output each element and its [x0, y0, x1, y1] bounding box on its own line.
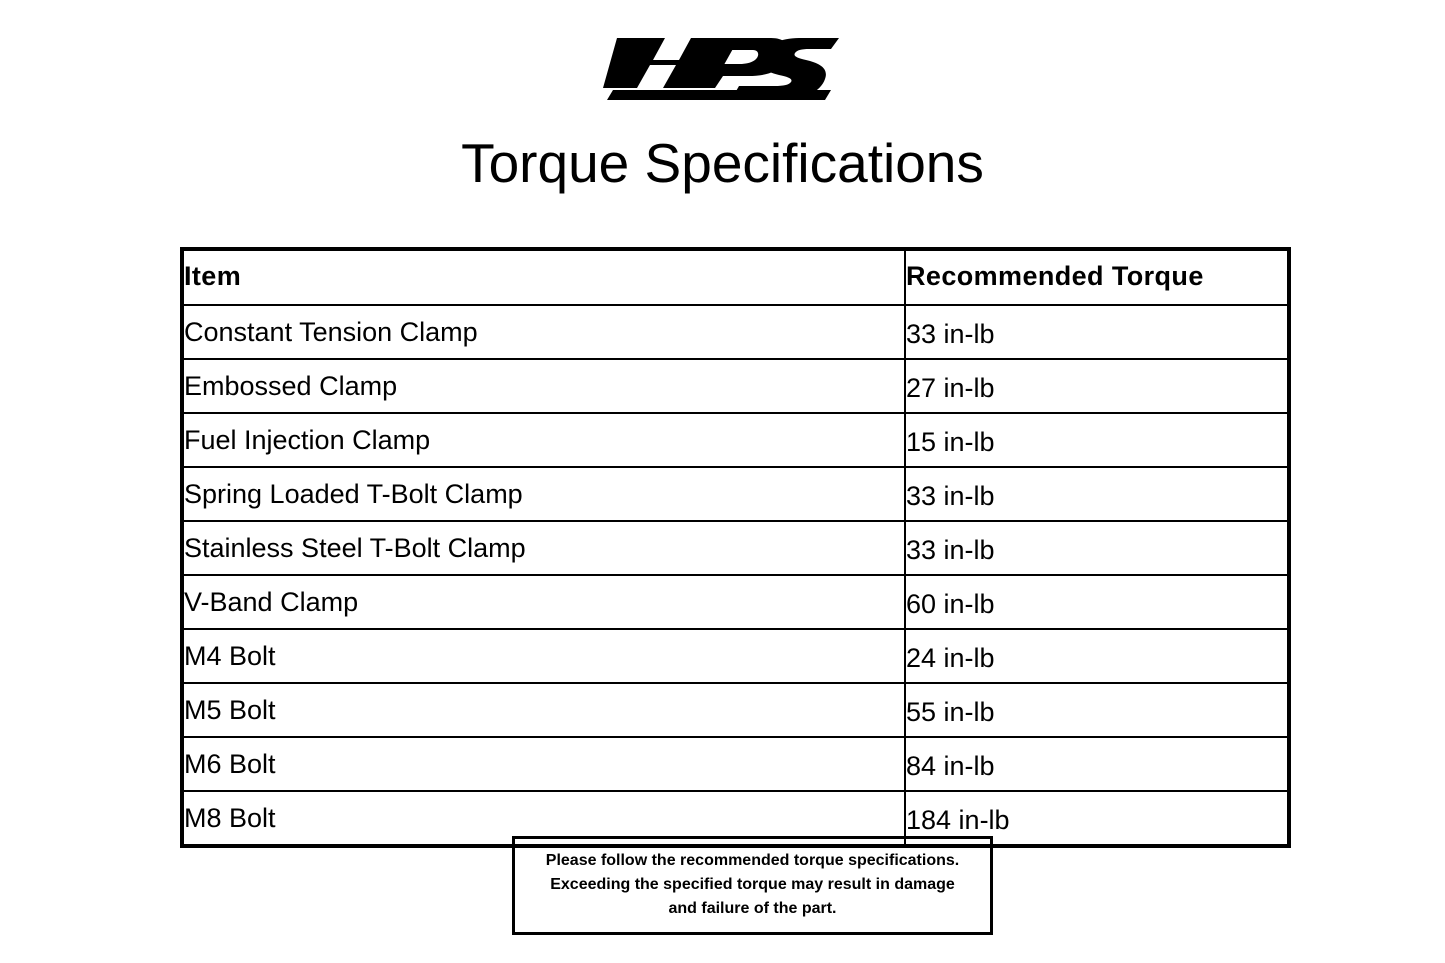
- table-row: Spring Loaded T-Bolt Clamp 33 in-lb: [182, 467, 1289, 521]
- table-row: M5 Bolt 55 in-lb: [182, 683, 1289, 737]
- cell-item: M4 Bolt: [182, 629, 905, 683]
- cell-torque: 27 in-lb: [905, 359, 1289, 413]
- hps-logo-icon: [603, 30, 843, 102]
- table-row: V-Band Clamp 60 in-lb: [182, 575, 1289, 629]
- column-header-torque: Recommended Torque: [905, 249, 1289, 305]
- cell-item: M6 Bolt: [182, 737, 905, 791]
- warning-note: Please follow the recommended torque spe…: [512, 836, 993, 935]
- warning-note-line: Please follow the recommended torque spe…: [521, 849, 984, 873]
- torque-specifications-table: Item Recommended Torque Constant Tension…: [180, 247, 1291, 848]
- cell-torque: 33 in-lb: [905, 305, 1289, 359]
- cell-torque: 55 in-lb: [905, 683, 1289, 737]
- cell-item: Fuel Injection Clamp: [182, 413, 905, 467]
- table-row: M4 Bolt 24 in-lb: [182, 629, 1289, 683]
- cell-torque: 84 in-lb: [905, 737, 1289, 791]
- table-row: Stainless Steel T-Bolt Clamp 33 in-lb: [182, 521, 1289, 575]
- cell-torque: 60 in-lb: [905, 575, 1289, 629]
- cell-item: M5 Bolt: [182, 683, 905, 737]
- cell-item: Stainless Steel T-Bolt Clamp: [182, 521, 905, 575]
- cell-item: Spring Loaded T-Bolt Clamp: [182, 467, 905, 521]
- table-row: Constant Tension Clamp 33 in-lb: [182, 305, 1289, 359]
- table-row: Embossed Clamp 27 in-lb: [182, 359, 1289, 413]
- cell-item: V-Band Clamp: [182, 575, 905, 629]
- cell-torque: 24 in-lb: [905, 629, 1289, 683]
- cell-item: Constant Tension Clamp: [182, 305, 905, 359]
- page-title: Torque Specifications: [0, 131, 1445, 195]
- table-body: Constant Tension Clamp 33 in-lb Embossed…: [182, 305, 1289, 846]
- warning-note-line: and failure of the part.: [521, 897, 984, 921]
- table-row: Fuel Injection Clamp 15 in-lb: [182, 413, 1289, 467]
- table-header-row: Item Recommended Torque: [182, 249, 1289, 305]
- cell-torque: 33 in-lb: [905, 467, 1289, 521]
- table-row: M6 Bolt 84 in-lb: [182, 737, 1289, 791]
- column-header-item: Item: [182, 249, 905, 305]
- table-header: Item Recommended Torque: [182, 249, 1289, 305]
- warning-note-line: Exceeding the specified torque may resul…: [521, 873, 984, 897]
- cell-item: Embossed Clamp: [182, 359, 905, 413]
- brand-logo: [0, 30, 1445, 110]
- cell-torque: 33 in-lb: [905, 521, 1289, 575]
- cell-torque: 15 in-lb: [905, 413, 1289, 467]
